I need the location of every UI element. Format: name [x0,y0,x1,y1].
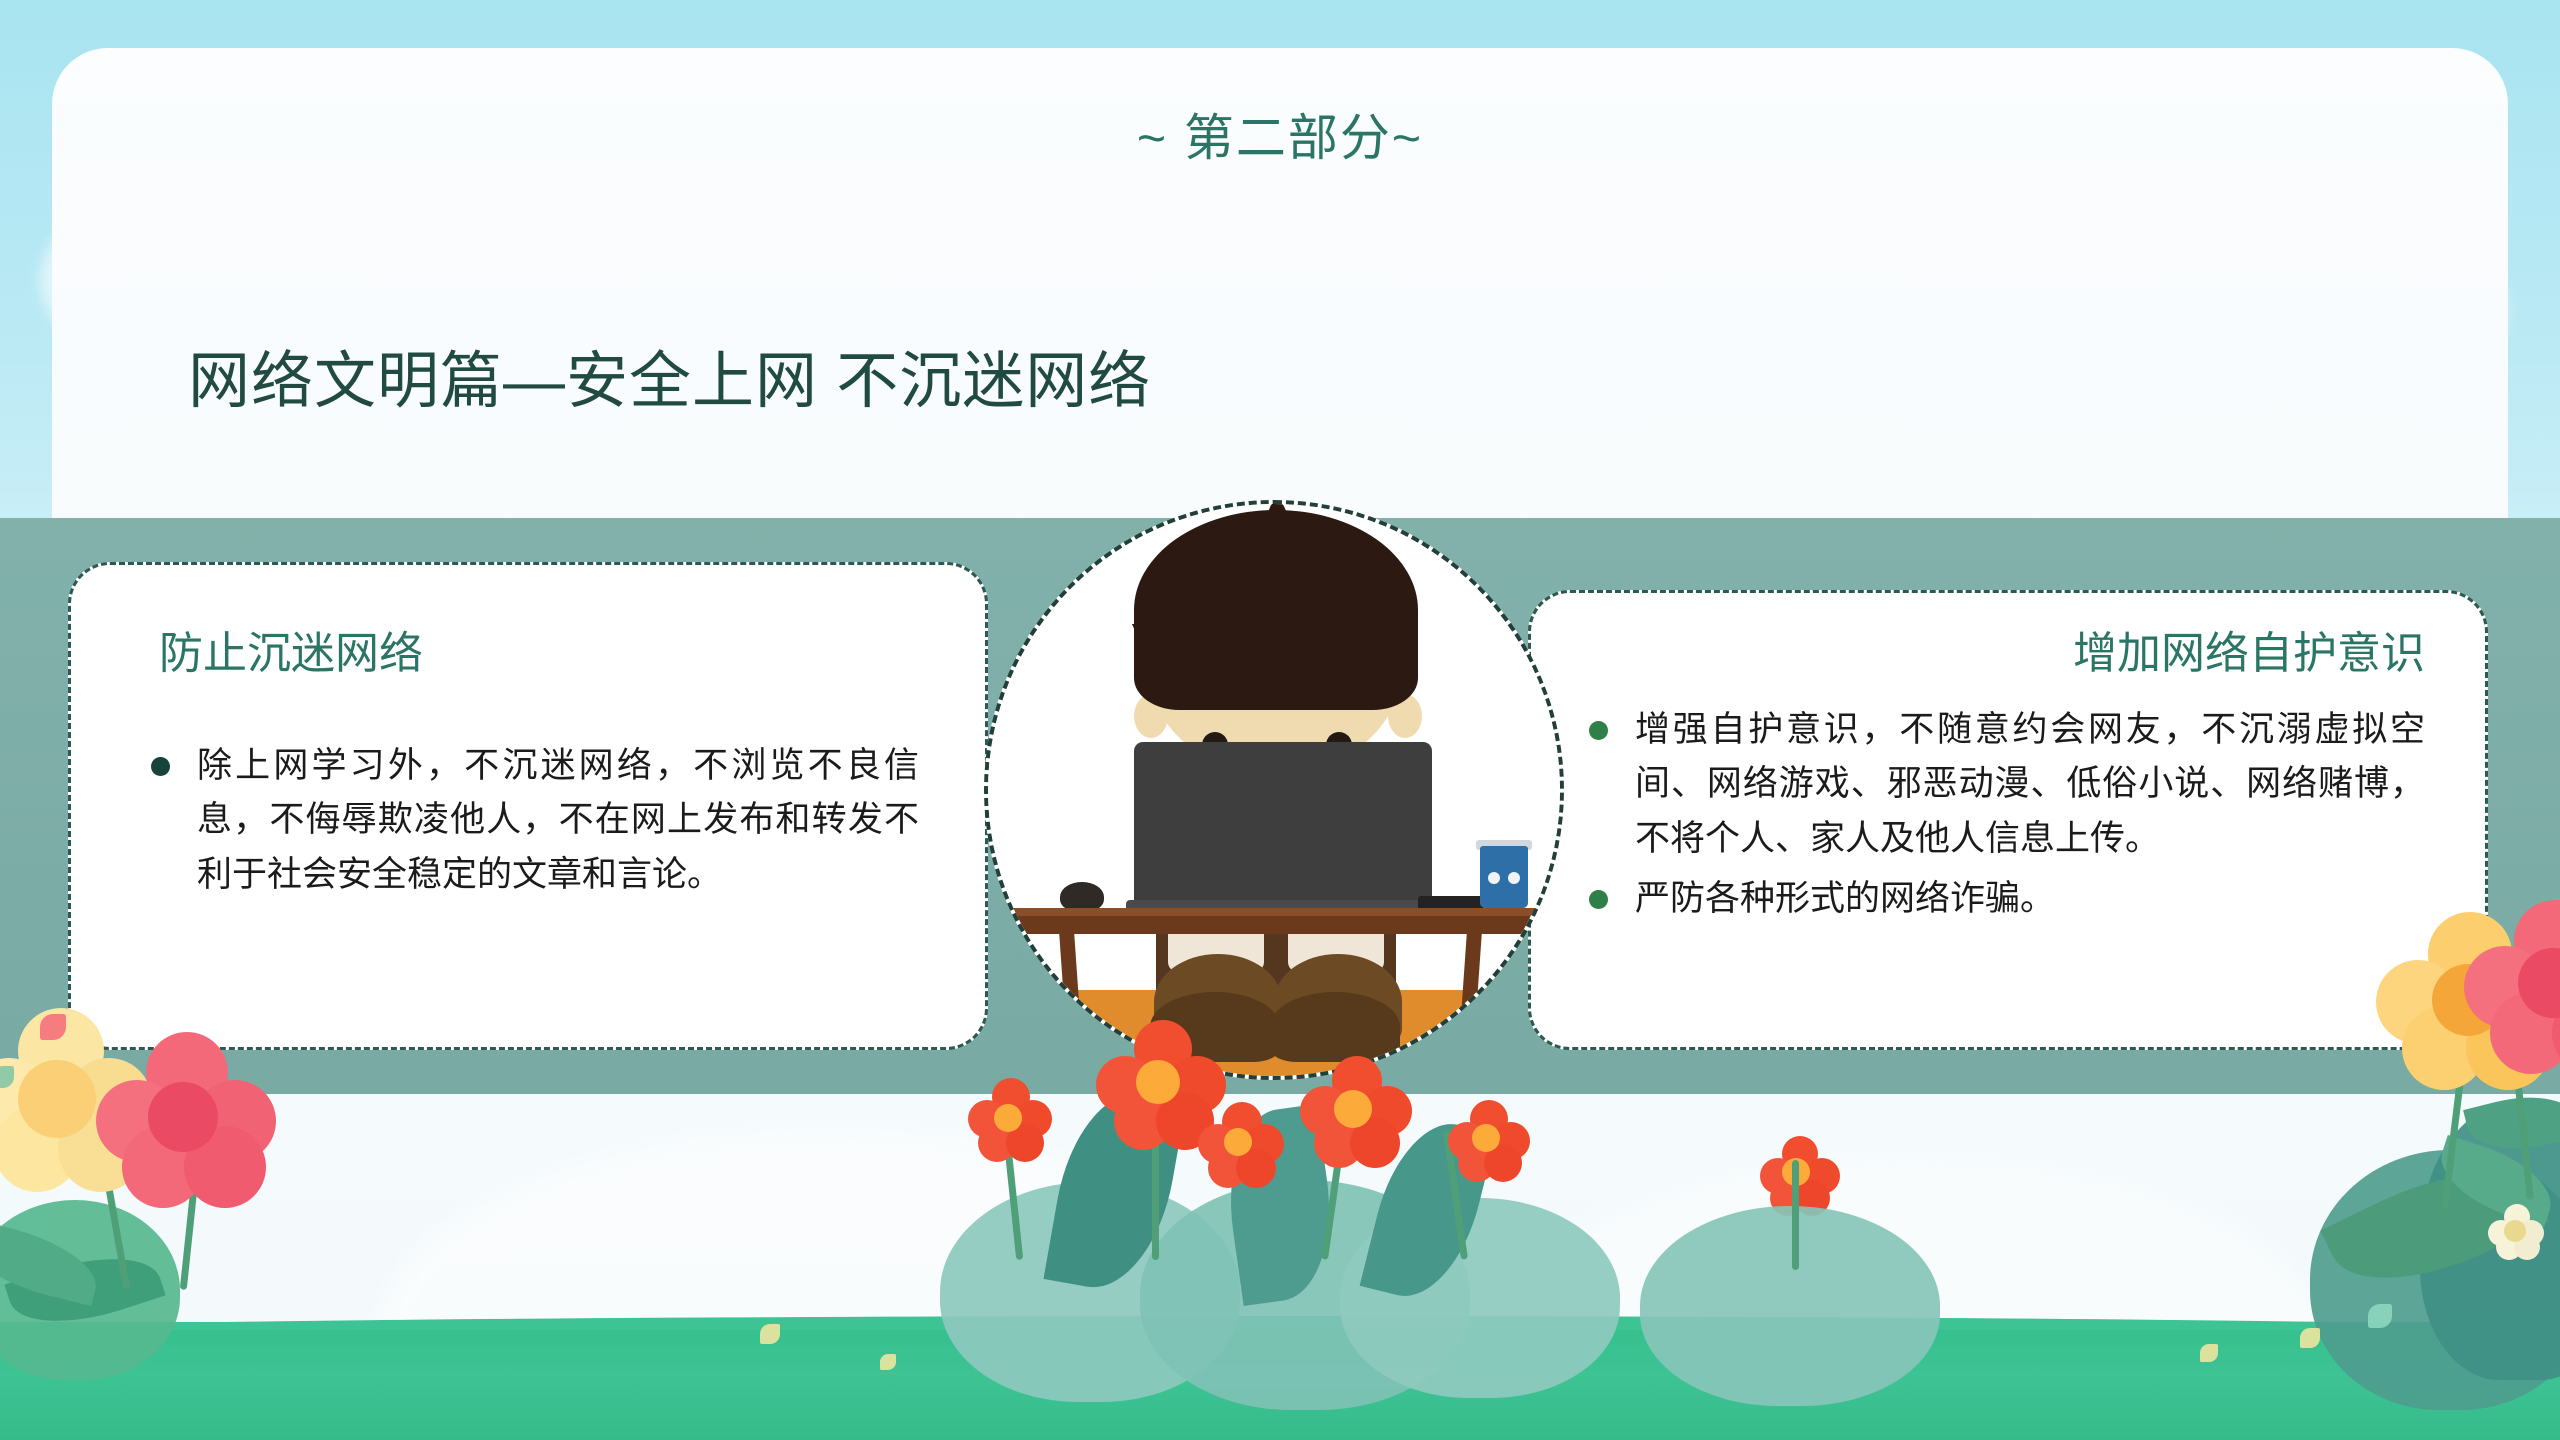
list-item: 严防各种形式的网络诈骗。 [1581,872,2425,926]
laptop-screen [1134,742,1432,914]
bullet-dot-icon [151,757,170,776]
card-self-protection: 增加网络自护意识 增强自护意识，不随意约会网友，不沉溺虚拟空间、网络游戏、邪恶动… [1528,590,2488,1050]
list-item-text: 增强自护意识，不随意约会网友，不沉溺虚拟空间、网络游戏、邪恶动漫、低俗小说、网络… [1635,710,2425,858]
page-title: 网络文明篇—安全上网 不沉迷网络 [188,330,1151,420]
illustration-circle [984,500,1564,1080]
left-card-title: 防止沉迷网络 [159,617,985,681]
boy-at-laptop-illustration [988,504,1560,1076]
grass-strip [0,1322,2560,1440]
shoe-toe [1150,992,1280,1062]
desk-top-highlight [1008,908,1550,916]
slide-root: ~ 第二部分~ 网络文明篇—安全上网 不沉迷网络 防止沉迷网络 除上网学习外，不… [0,0,2560,1440]
list-item-text: 严防各种形式的网络诈骗。 [1635,879,2055,918]
hair-tuft [1238,500,1308,544]
illustration-ring [984,500,1564,1080]
bullet-dot-icon [1589,721,1608,740]
bullet-dot-icon [1589,890,1608,909]
list-item: 除上网学习外，不沉迷网络，不浏览不良信息，不侮辱欺凌他人，不在网上发布和转发不利… [143,739,919,902]
shoe-toe [1270,992,1400,1062]
left-card-bullets: 除上网学习外，不沉迷网络，不浏览不良信息，不侮辱欺凌他人，不在网上发布和转发不利… [143,739,919,902]
right-card-title: 增加网络自护意识 [1531,617,2425,681]
right-card-bullets: 增强自护意识，不随意约会网友，不沉溺虚拟空间、网络游戏、邪恶动漫、低俗小说、网络… [1581,703,2425,926]
list-item: 增强自护意识，不随意约会网友，不沉溺虚拟空间、网络游戏、邪恶动漫、低俗小说、网络… [1581,703,2425,866]
hair-fringe [1138,624,1414,682]
section-tag: ~ 第二部分~ [0,98,2560,170]
card-prevent-addiction: 防止沉迷网络 除上网学习外，不沉迷网络，不浏览不良信息，不侮辱欺凌他人，不在网上… [68,562,988,1050]
list-item-text: 除上网学习外，不沉迷网络，不浏览不良信息，不侮辱欺凌他人，不在网上发布和转发不利… [197,746,919,894]
cup-face [1488,872,1520,884]
